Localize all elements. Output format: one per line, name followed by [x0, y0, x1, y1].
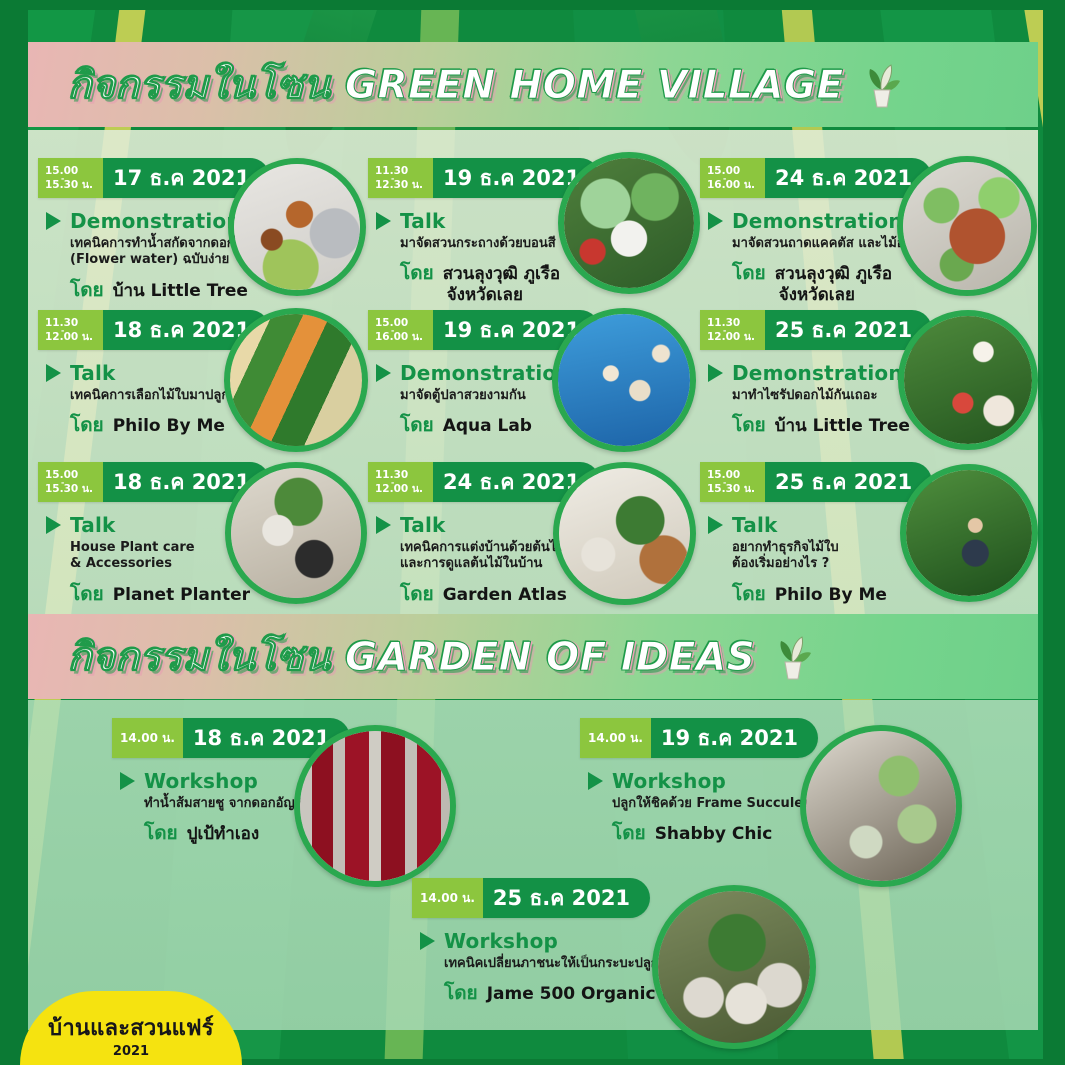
by-label: โดย [732, 579, 766, 609]
event-date: 19 ธ.ค 2021 [651, 718, 818, 758]
event-type: Demonstration [732, 209, 903, 233]
potted-plant-icon [858, 59, 904, 111]
frame-left [0, 0, 28, 1065]
foliage-plants-photo [224, 308, 368, 452]
event-datetime-badge: 15.00 - 16.00 น. 24 ธ.ค 2021 [700, 158, 932, 198]
event-datetime-badge: 14.00 น. 19 ธ.ค 2021 [580, 718, 818, 758]
play-triangle-icon [376, 516, 391, 534]
event-datetime-badge: 14.00 น. 25 ธ.ค 2021 [412, 878, 650, 918]
by-label: โดย [612, 818, 646, 848]
play-triangle-icon [708, 516, 723, 534]
by-label: โดย [70, 275, 104, 305]
event-host: บ้าน Little Tree [775, 416, 910, 436]
event-time: 15.00 - 15.30 น. [700, 462, 765, 502]
section-title: กิจกรรมในโซน GARDEN OF IDEAS [68, 626, 755, 688]
play-triangle-icon [376, 212, 391, 230]
event-time-end: 15.30 น. [45, 484, 93, 495]
event-type: Talk [732, 513, 778, 537]
event-time-end: 16.00 น. [375, 332, 423, 343]
logo-year: 2021 [113, 1044, 149, 1059]
event-date: 25 ธ.ค 2021 [483, 878, 650, 918]
frame-top [0, 0, 1065, 10]
event-type: Demonstration [732, 361, 903, 385]
event-time: 11.30 - 12.00 น. [700, 310, 765, 350]
event-host: Aqua Lab [443, 416, 532, 436]
event-type: Talk [70, 513, 116, 537]
event-time: 11.30 - 12.00 น. [38, 310, 103, 350]
play-triangle-icon [708, 212, 723, 230]
play-triangle-icon [46, 516, 61, 534]
event-time: 14.00 น. [412, 878, 483, 918]
butterfly-pea-vinegar-photo [294, 725, 456, 887]
potted-plant-icon [769, 631, 815, 683]
event-time-end: 12.00 น. [375, 484, 423, 495]
by-label: โดย [400, 258, 434, 288]
caladium-pot-photo [558, 152, 700, 294]
event-type: Talk [400, 513, 446, 537]
section-header-garden-of-ideas: กิจกรรมในโซน GARDEN OF IDEAS [28, 614, 1038, 699]
event-time: 15.00 - 15.30 น. [38, 158, 103, 198]
event-host: Philo By Me [775, 585, 887, 605]
play-triangle-icon [420, 932, 435, 950]
event-type: Workshop [612, 769, 726, 793]
event-host: Shabby Chic [655, 824, 773, 844]
cactus-dish-garden-photo [897, 156, 1037, 296]
flower-water-distiller-photo [228, 158, 366, 296]
event-type: Demonstration [400, 361, 571, 385]
event-time-end: 12.30 น. [375, 180, 423, 191]
house-plants-photo [225, 462, 367, 604]
by-label: โดย [732, 410, 766, 440]
event-host: Planet Planter [113, 585, 250, 605]
play-triangle-icon [588, 772, 603, 790]
host-line: สวนลุงวุฒิ ภูเรือ [775, 264, 892, 284]
event-datetime-badge: 11.30 - 12.00 น. 25 ธ.ค 2021 [700, 310, 932, 350]
flower-syrup-photo [898, 310, 1038, 450]
event-schedule-poster: กิจกรรมในโซน GREEN HOME VILLAGE 15.00 - … [0, 0, 1065, 1065]
event-host: Garden Atlas [443, 585, 567, 605]
event-host: ปูเป้ทำเอง [187, 824, 259, 844]
event-time-end: 15.30 น. [707, 484, 755, 495]
by-label: โดย [144, 818, 178, 848]
event-time: 11.30 - 12.00 น. [368, 462, 433, 502]
host-line: จังหวัดเลย [447, 285, 560, 305]
event-time: 14.00 น. [580, 718, 651, 758]
event-time: 15.00 - 16.00 น. [700, 158, 765, 198]
event-type: Talk [400, 209, 446, 233]
event-time: 15.00 - 15.30 น. [38, 462, 103, 502]
by-label: โดย [732, 258, 766, 288]
event-time: 14.00 น. [112, 718, 183, 758]
indoor-plant-decor-photo [553, 462, 696, 605]
play-triangle-icon [120, 772, 135, 790]
frame-succulent-photo [800, 725, 962, 887]
event-host: สวนลุงวุฒิ ภูเรือ จังหวัดเลย [443, 264, 560, 305]
play-triangle-icon [46, 364, 61, 382]
by-label: โดย [400, 410, 434, 440]
by-label: โดย [400, 579, 434, 609]
aquarium-fish-photo [552, 308, 696, 452]
event-type: Workshop [144, 769, 258, 793]
event-host: Philo By Me [113, 416, 225, 436]
by-label: โดย [70, 579, 104, 609]
event-host: สวนลุงวุฒิ ภูเรือ จังหวัดเลย [775, 264, 892, 305]
event-time-end: 16.00 น. [707, 180, 755, 191]
play-triangle-icon [46, 212, 61, 230]
event-type: Talk [70, 361, 116, 385]
section-title: กิจกรรมในโซน GREEN HOME VILLAGE [68, 54, 844, 116]
event-host: บ้าน Little Tree [113, 281, 248, 301]
by-label: โดย [444, 978, 478, 1008]
host-line: จังหวัดเลย [779, 285, 892, 305]
event-time-end: 12.00 น. [45, 332, 93, 343]
event-time: 11.30 - 12.30 น. [368, 158, 433, 198]
event-time-end: 12.00 น. [707, 332, 755, 343]
play-triangle-icon [708, 364, 723, 382]
by-label: โดย [70, 410, 104, 440]
logo-name: บ้านและสวนแฟร์ [48, 1010, 214, 1045]
event-type: Workshop [444, 929, 558, 953]
event-datetime-badge: 15.00 - 15.30 น. 25 ธ.ค 2021 [700, 462, 932, 502]
event-type: Demonstration [70, 209, 241, 233]
section-header-green-home-village: กิจกรรมในโซน GREEN HOME VILLAGE [28, 42, 1038, 127]
host-line: สวนลุงวุฒิ ภูเรือ [443, 264, 560, 284]
event-time: 15.00 - 16.00 น. [368, 310, 433, 350]
plant-shop-person-photo [900, 464, 1038, 602]
event-time-end: 15.30 น. [45, 180, 93, 191]
recycled-planters-photo [652, 885, 816, 1049]
play-triangle-icon [376, 364, 391, 382]
